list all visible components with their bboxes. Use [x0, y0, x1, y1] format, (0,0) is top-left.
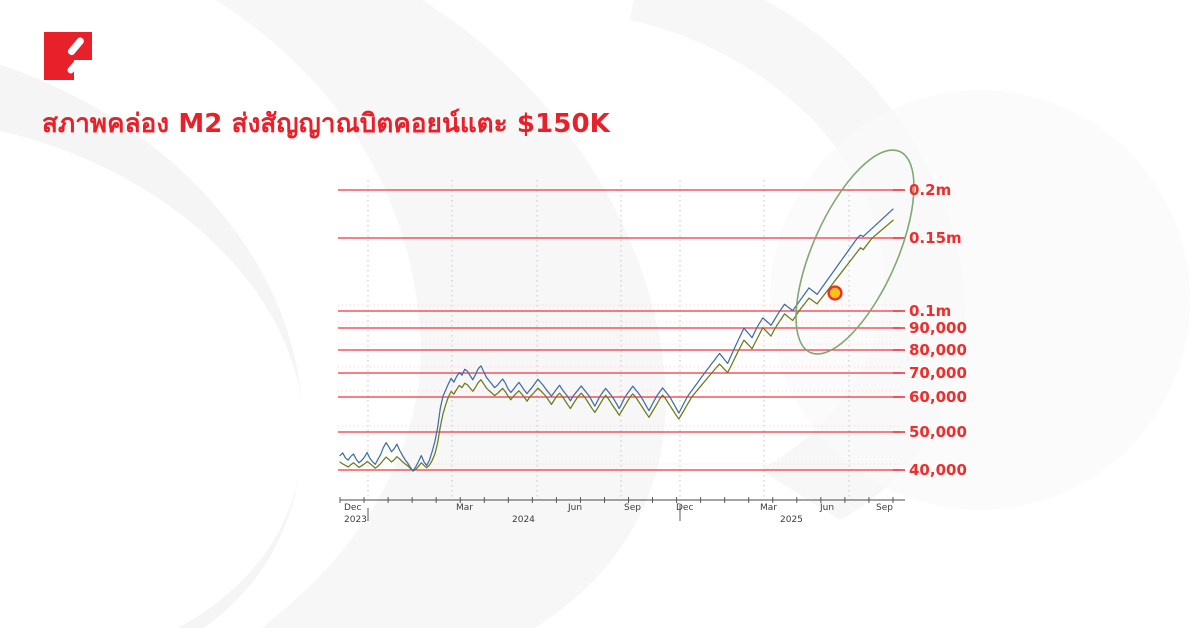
y-axis-label: 70,000 [909, 364, 967, 382]
y-axis-label: 60,000 [909, 388, 967, 406]
y-axis-label: 90,000 [909, 319, 967, 337]
page-title: สภาพคล่อง M2 ส่งสัญญาณบิตคอยน์แตะ $150K [42, 103, 610, 144]
brand-logo [42, 30, 94, 82]
x-axis-year-label: 2023 [344, 515, 367, 525]
y-axis-label: 50,000 [909, 423, 967, 441]
price-level-lines [338, 190, 900, 470]
price-vs-liquidity-chart [0, 0, 1200, 628]
x-axis-label: Jun [820, 503, 834, 513]
chart-container: 0.2m0.15m0.1m90,00080,00070,00060,00050,… [0, 0, 1200, 628]
y-axis-label: 0.1m [909, 302, 951, 320]
y-axis-label: 0.15m [909, 229, 962, 247]
y-axis-label: 80,000 [909, 341, 967, 359]
x-axis-year-label: 2025 [780, 515, 803, 525]
x-axis-year-label: 2024 [512, 515, 535, 525]
vertical-gridlines [368, 180, 849, 500]
y-axis-label: 40,000 [909, 461, 967, 479]
x-axis-label: Dec [344, 503, 361, 513]
infographic-canvas: สภาพคล่อง M2 ส่งสัญญาณบิตคอยน์แตะ $150K [0, 0, 1200, 628]
y-axis-label: 0.2m [909, 181, 951, 199]
x-axis-label: Sep [624, 503, 641, 513]
feather-square-logo-icon [42, 30, 94, 82]
brand-header [42, 30, 94, 82]
x-axis-label: Sep [876, 503, 893, 513]
x-axis-label: Mar [760, 503, 777, 513]
m2-liquidity-line [340, 220, 893, 471]
y-axis-ticks [893, 190, 905, 470]
x-axis-label: Jun [568, 503, 582, 513]
faint-horizontal-gridlines [338, 305, 900, 464]
x-axis-label: Dec [676, 503, 693, 513]
price-marker-dot [827, 285, 842, 300]
x-axis-label: Mar [456, 503, 473, 513]
